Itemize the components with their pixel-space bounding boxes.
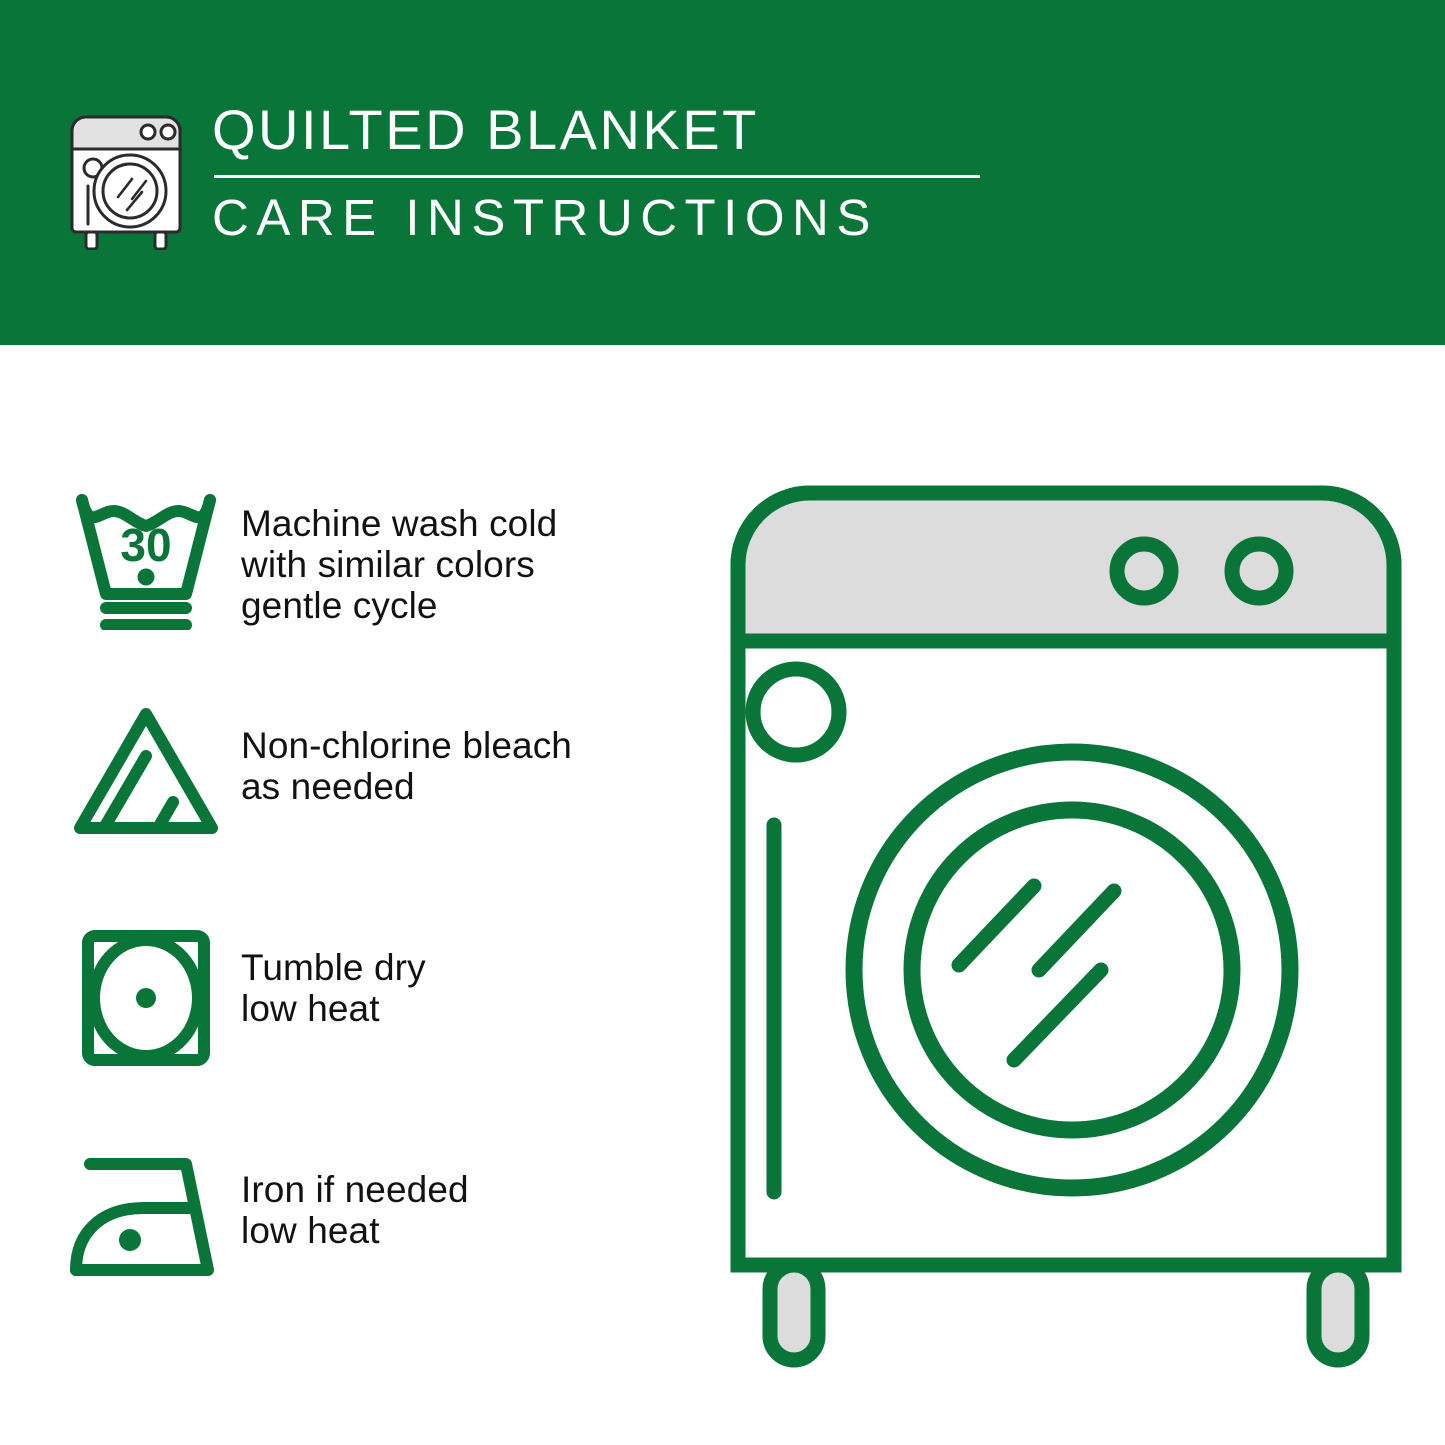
control-panel xyxy=(738,493,1394,641)
wash-tub-30-icon: 30 xyxy=(66,478,241,630)
care-text-line: low heat xyxy=(241,1210,686,1251)
care-item-tumble-dry: Tumble dry low heat xyxy=(66,922,686,1144)
header-text-block: QUILTED BLANKET CARE INSTRUCTIONS xyxy=(212,95,986,246)
knob-left xyxy=(1117,544,1171,598)
care-instruction-list: 30 Machine wash cold with similar colors… xyxy=(66,478,686,1366)
care-item-bleach: Non-chlorine bleach as needed xyxy=(66,700,686,922)
care-text-line: as needed xyxy=(241,766,686,807)
front-load-washing-machine-illustration xyxy=(716,470,1416,1370)
bleach-triangle-icon xyxy=(66,700,241,852)
care-text-line: Tumble dry xyxy=(241,947,686,988)
care-instructions-page: QUILTED BLANKET CARE INSTRUCTIONS xyxy=(0,0,1445,1445)
care-text-line: Non-chlorine bleach xyxy=(241,725,686,766)
page-subtitle: CARE INSTRUCTIONS xyxy=(212,190,986,246)
care-text-line: low heat xyxy=(241,988,686,1029)
leg-right xyxy=(1314,1265,1362,1360)
care-item-bleach-text: Non-chlorine bleach as needed xyxy=(241,700,686,807)
iron-icon xyxy=(66,1144,241,1296)
care-item-tumble-dry-text: Tumble dry low heat xyxy=(241,922,686,1029)
leg-left xyxy=(770,1265,818,1360)
care-text-line: gentle cycle xyxy=(241,585,686,626)
washing-machine-icon xyxy=(66,98,186,250)
care-item-machine-wash-text: Machine wash cold with similar colors ge… xyxy=(241,478,686,626)
knob-right xyxy=(1232,544,1286,598)
care-text-line: Iron if needed xyxy=(241,1169,686,1210)
page-title: QUILTED BLANKET xyxy=(212,99,986,161)
care-item-machine-wash: 30 Machine wash cold with similar colors… xyxy=(66,478,686,700)
tumble-dry-icon xyxy=(66,922,241,1074)
care-text-line: Machine wash cold xyxy=(241,503,686,544)
care-item-iron: Iron if needed low heat xyxy=(66,1144,686,1366)
header-content: QUILTED BLANKET CARE INSTRUCTIONS xyxy=(66,95,986,265)
care-text-line: with similar colors xyxy=(241,544,686,585)
header-band: QUILTED BLANKET CARE INSTRUCTIONS xyxy=(0,0,1445,345)
dispenser-circle xyxy=(753,669,839,755)
wash-temperature-label: 30 xyxy=(120,519,171,571)
care-item-iron-text: Iron if needed low heat xyxy=(241,1144,686,1251)
title-divider xyxy=(214,175,980,178)
